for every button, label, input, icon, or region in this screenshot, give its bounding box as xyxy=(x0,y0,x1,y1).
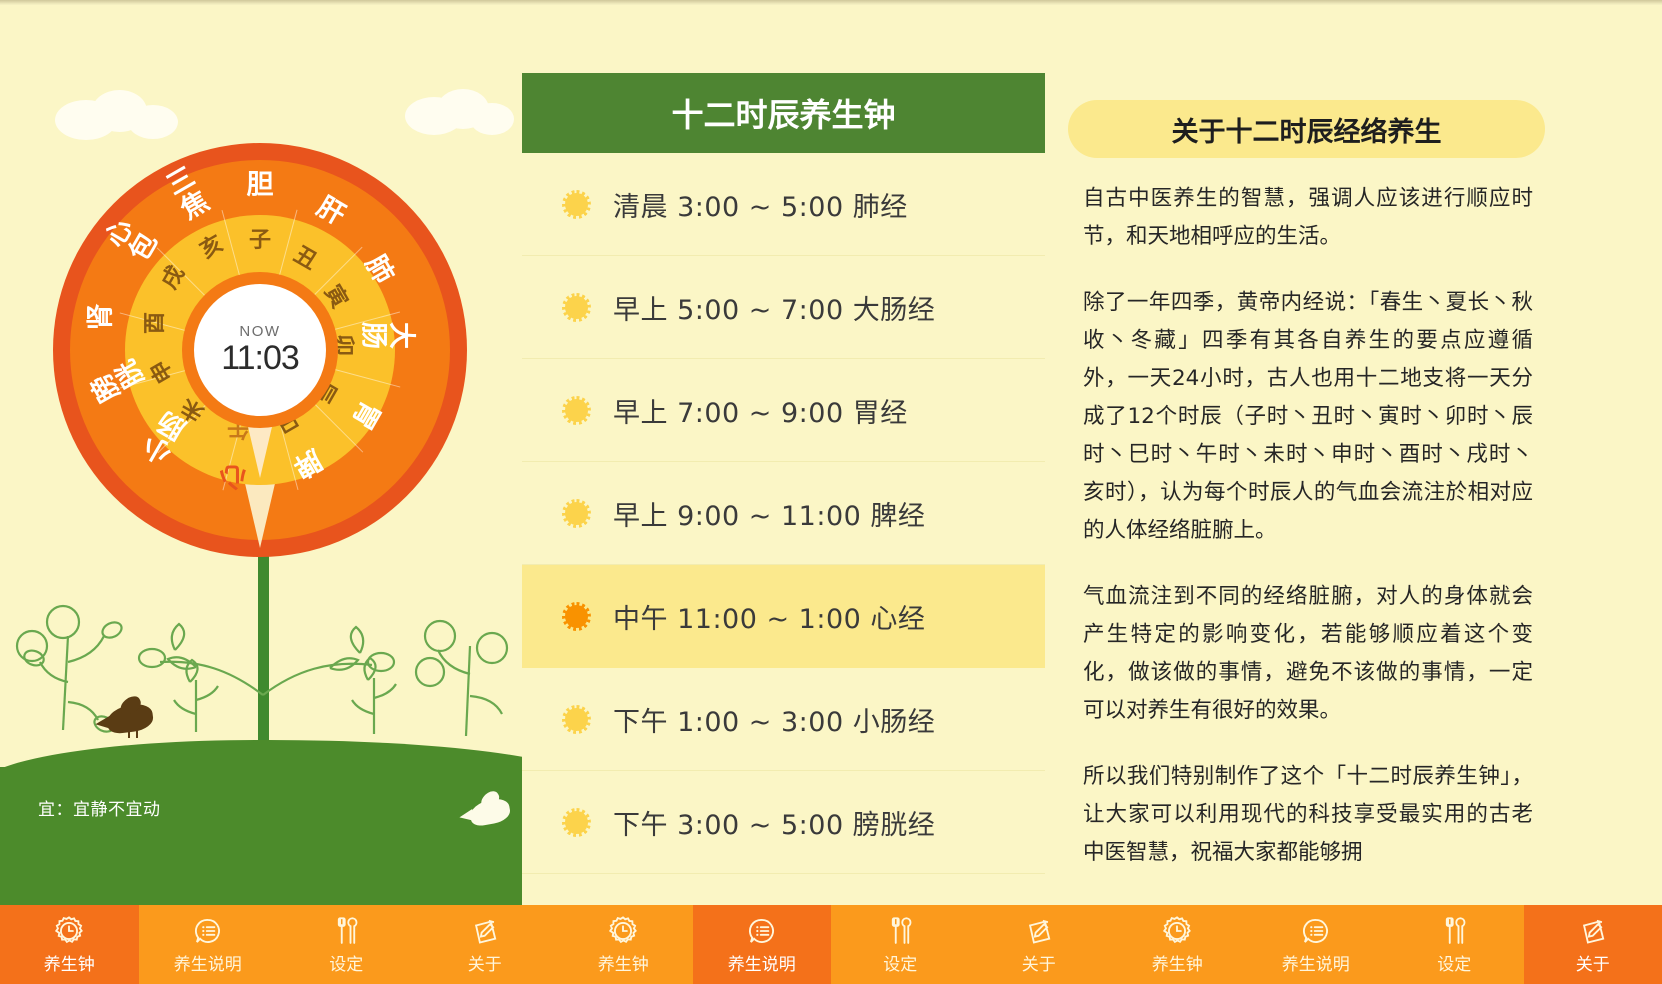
tab-label: 养生钟 xyxy=(598,950,649,975)
schedule-row-label: 中午 11:00 ~ 1:00 心经 xyxy=(613,597,925,636)
sun-icon xyxy=(562,293,591,322)
tab-关于[interactable]: 关于 xyxy=(1524,905,1662,984)
tab-label: 养生说明 xyxy=(728,950,796,975)
schedule-row[interactable]: 下午 3:00 ~ 5:00 膀胱经 xyxy=(522,771,1045,874)
sun-icon xyxy=(562,602,591,631)
clock-hub: NOW 11:03 xyxy=(194,284,326,416)
schedule-row[interactable]: 早上 9:00 ~ 11:00 脾经 xyxy=(522,462,1045,565)
daily-advice-text: 宜：宜静不宜动 xyxy=(38,795,161,820)
about-paragraph: 除了一年四季，黄帝内经说：「春生丶夏长丶秋收丶冬藏」四季有其各自养生的要点应遵循… xyxy=(1083,284,1533,550)
clock-organ-label: 心 xyxy=(220,460,247,499)
sunflower-clock[interactable]: 1357911131517192123 胆肝肺大肠胃脾心小肠膀胱肾心包三焦 子丑… xyxy=(10,100,510,600)
tools-icon xyxy=(1437,914,1471,948)
tools-icon xyxy=(329,914,363,948)
chat-list-icon xyxy=(1299,914,1333,948)
tab-label: 设定 xyxy=(1437,950,1471,975)
sun-icon xyxy=(562,499,591,528)
now-label: NOW xyxy=(239,323,280,340)
tab-设定[interactable]: 设定 xyxy=(831,905,970,984)
schedule-row[interactable]: 清晨 3:00 ~ 5:00 肺经 xyxy=(522,153,1045,256)
note-pen-icon xyxy=(1576,914,1610,948)
current-time: 11:03 xyxy=(221,339,299,378)
schedule-row[interactable]: 中午 11:00 ~ 1:00 心经 xyxy=(522,565,1045,668)
bird-leg xyxy=(136,729,138,738)
about-paragraph: 自古中医养生的智慧，强调人应该进行顺应时节，和天地相呼应的生活。 xyxy=(1083,180,1533,256)
tab-label: 养生说明 xyxy=(1282,950,1350,975)
schedule-row-label: 早上 7:00 ~ 9:00 胃经 xyxy=(613,391,908,430)
schedule-row[interactable]: 下午 1:00 ~ 3:00 小肠经 xyxy=(522,668,1045,771)
tab-label: 关于 xyxy=(468,950,502,975)
schedule-row[interactable]: 早上 7:00 ~ 9:00 胃经 xyxy=(522,359,1045,462)
chat-list-icon xyxy=(745,914,779,948)
clock-organ-label: 大肠 xyxy=(359,322,415,349)
bottom-tab-bar[interactable]: 养生钟养生说明设定关于养生钟养生说明设定关于养生钟养生说明设定关于 xyxy=(0,905,1662,984)
about-paragraph: 所以我们特别制作了这个「十二时辰养生钟」，让大家可以利用现代的科技享受最实用的古… xyxy=(1083,758,1533,872)
tab-养生钟[interactable]: 养生钟 xyxy=(554,905,693,984)
tab-设定[interactable]: 设定 xyxy=(277,905,416,984)
tab-养生说明[interactable]: 养生说明 xyxy=(693,905,832,984)
ground-fill xyxy=(0,767,522,905)
about-panel: 关于十二时辰经络养生 自古中医养生的智慧，强调人应该进行顺应时节，和天地相呼应的… xyxy=(1045,5,1662,905)
sun-icon xyxy=(562,808,591,837)
clock-organ-label: 胆 xyxy=(247,163,274,202)
tab-label: 关于 xyxy=(1576,950,1610,975)
clock-icon xyxy=(1160,914,1194,948)
app-screen: 宜：宜静不宜动 1357911131517192123 胆肝肺大肠胃脾心小肠膀胱… xyxy=(0,0,1662,984)
note-pen-icon xyxy=(1022,914,1056,948)
tools-icon xyxy=(883,914,917,948)
clock-branch-label: 子 xyxy=(249,222,271,254)
tab-设定[interactable]: 设定 xyxy=(1385,905,1524,984)
note-pen-icon xyxy=(468,914,502,948)
about-paragraph: 气血流注到不同的经络脏腑，对人的身体就会产生特定的影响变化，若能够顺应着这个变化… xyxy=(1083,578,1533,730)
tab-label: 关于 xyxy=(1022,950,1056,975)
tab-label: 设定 xyxy=(329,950,363,975)
schedule-title: 十二时辰养生钟 xyxy=(522,73,1045,153)
clock-branch-label: 酉 xyxy=(137,312,169,334)
schedule-row-label: 清晨 3:00 ~ 5:00 肺经 xyxy=(613,185,908,224)
schedule-row-label: 下午 1:00 ~ 3:00 小肠经 xyxy=(613,700,935,739)
clock-panel: 宜：宜静不宜动 1357911131517192123 胆肝肺大肠胃脾心小肠膀胱… xyxy=(0,5,522,905)
sun-icon xyxy=(562,396,591,425)
sun-icon xyxy=(562,705,591,734)
schedule-row-label: 早上 5:00 ~ 7:00 大肠经 xyxy=(613,288,935,327)
about-title: 关于十二时辰经络养生 xyxy=(1068,100,1545,158)
schedule-list[interactable]: 清晨 3:00 ~ 5:00 肺经早上 5:00 ~ 7:00 大肠经早上 7:… xyxy=(522,153,1045,898)
tab-label: 设定 xyxy=(883,950,917,975)
tab-关于[interactable]: 关于 xyxy=(970,905,1109,984)
schedule-panel: 十二时辰养生钟 清晨 3:00 ~ 5:00 肺经早上 5:00 ~ 7:00 … xyxy=(522,5,1045,905)
clock-icon xyxy=(52,914,86,948)
tab-label: 养生钟 xyxy=(44,950,95,975)
tab-关于[interactable]: 关于 xyxy=(416,905,555,984)
clock-icon xyxy=(606,914,640,948)
tab-养生说明[interactable]: 养生说明 xyxy=(139,905,278,984)
schedule-row[interactable]: 早上 5:00 ~ 7:00 大肠经 xyxy=(522,256,1045,359)
clock-organ-label: 肾 xyxy=(79,304,118,331)
about-text: 自古中医养生的智慧，强调人应该进行顺应时节，和天地相呼应的生活。除了一年四季，黄… xyxy=(1083,180,1533,900)
chat-list-icon xyxy=(191,914,225,948)
tab-养生钟[interactable]: 养生钟 xyxy=(1108,905,1247,984)
tab-养生钟[interactable]: 养生钟 xyxy=(0,905,139,984)
tab-label: 养生钟 xyxy=(1152,950,1203,975)
sun-icon xyxy=(562,190,591,219)
schedule-row-label: 下午 3:00 ~ 5:00 膀胱经 xyxy=(613,803,935,842)
tab-label: 养生说明 xyxy=(174,950,242,975)
tab-养生说明[interactable]: 养生说明 xyxy=(1247,905,1386,984)
schedule-row-label: 早上 9:00 ~ 11:00 脾经 xyxy=(613,494,925,533)
bird-leg xyxy=(128,729,130,738)
